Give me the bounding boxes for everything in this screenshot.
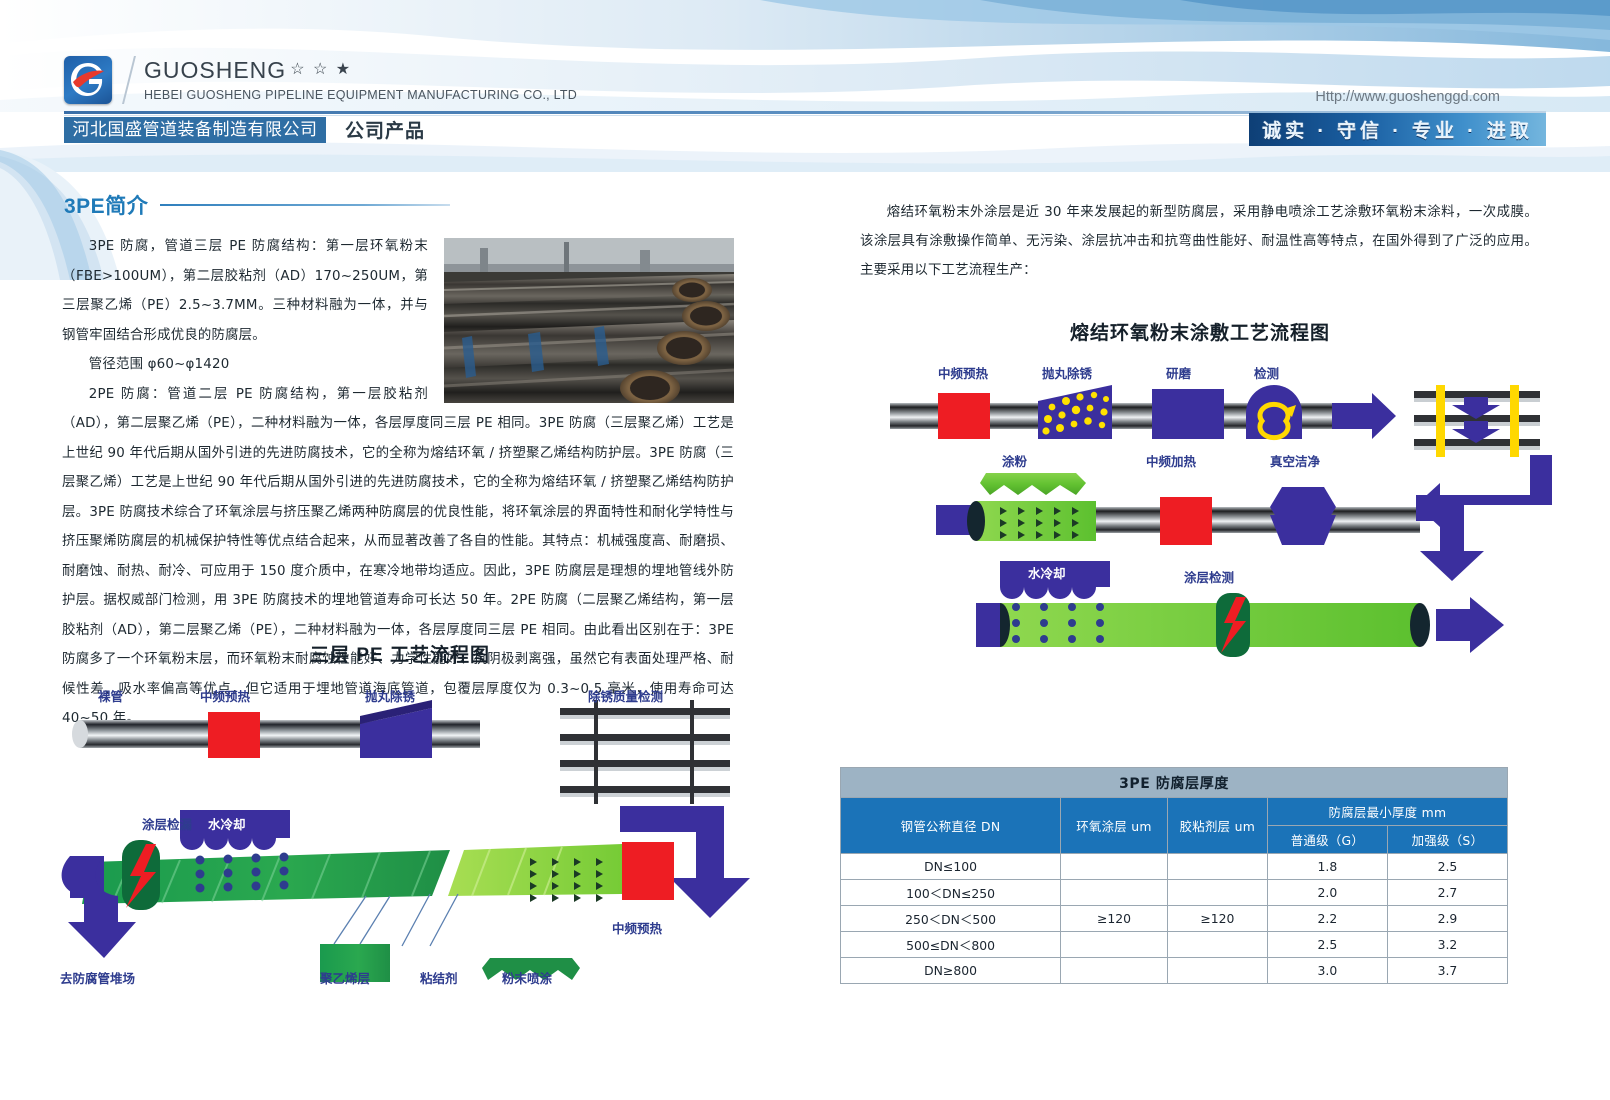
cell-epoxy	[1061, 932, 1168, 958]
company-slogan-text: 诚实 · 守信 · 专业 · 进取	[1249, 113, 1546, 146]
section-heading-text: 3PE简介	[64, 190, 148, 220]
cell-normal: 2.2	[1267, 906, 1387, 932]
left-diagram-title: 三层 PE 工艺流程图	[60, 640, 740, 667]
label-pe-layer: 聚乙烯层	[320, 968, 370, 987]
right-paragraph-1: 熔结环氧粉末外涂层是近 30 年来发展起的新型防腐层，采用静电喷涂工艺涂敷环氧粉…	[860, 198, 1538, 285]
cell-adhesive	[1167, 958, 1267, 984]
th-grade-enhanced: 加强级（S）	[1387, 826, 1507, 854]
table-row: DN≤100 1.8 2.5	[841, 854, 1508, 880]
label-inspection: 检测	[1254, 363, 1279, 382]
table-row: 250＜DN＜500 ≥120 ≥120 2.2 2.9	[841, 906, 1508, 932]
logo-divider	[122, 56, 136, 104]
cell-enhanced: 3.7	[1387, 958, 1507, 984]
label-water-cooling-left: 水冷却	[208, 814, 246, 833]
pe-flow-graphics	[60, 682, 760, 992]
company-logo-block: GUOSHENG ☆ ☆ ★ HEBEI GUOSHENG PIPELINE E…	[64, 56, 577, 104]
section-label-cn: 公司产品	[345, 116, 425, 143]
guosheng-logo-icon	[64, 56, 112, 104]
right-diagram-title: 熔结环氧粉末涂敷工艺流程图	[860, 318, 1540, 345]
label-derust-quality-check: 除锈质量检测	[588, 686, 663, 705]
label-coating-inspection: 涂层检测	[1184, 567, 1234, 586]
brand-subtitle-en: HEBEI GUOSHENG PIPELINE EQUIPMENT MANUFA…	[144, 88, 577, 102]
table-body: DN≤100 1.8 2.5 100＜DN≤250 2.0 2.7 250＜DN…	[841, 854, 1508, 984]
cell-enhanced: 2.9	[1387, 906, 1507, 932]
cell-normal: 2.0	[1267, 880, 1387, 906]
table-row: DN≥800 3.0 3.7	[841, 958, 1508, 984]
table-caption: 3PE 防腐层厚度	[841, 768, 1508, 798]
label-vacuum-clean: 真空洁净	[1270, 451, 1320, 470]
label-induction-preheat-b: 中频预热	[612, 918, 662, 937]
brand-stars: ☆ ☆ ★	[290, 57, 352, 83]
th-grade-normal: 普通级（G）	[1267, 826, 1387, 854]
cell-dn: DN≤100	[841, 854, 1061, 880]
th-nominal-diameter: 钢管公称直径 DN	[841, 798, 1061, 854]
section-heading: 3PE简介	[64, 190, 450, 220]
cell-dn: 100＜DN≤250	[841, 880, 1061, 906]
steel-pipe-photo	[444, 238, 734, 403]
label-shot-blast-derust: 抛丸除锈	[365, 686, 415, 705]
fbe-flow-graphics	[880, 355, 1560, 685]
cell-epoxy	[1061, 880, 1168, 906]
brochure-page: GUOSHENG ☆ ☆ ★ HEBEI GUOSHENG PIPELINE E…	[0, 0, 1610, 1100]
cell-epoxy	[1061, 958, 1168, 984]
label-induction-heating: 中频加热	[1146, 451, 1196, 470]
left-paragraph-3: 2PE 防腐：管道二层 PE 防腐结构，第一层胶粘剂（AD），第二层聚乙烯（PE…	[62, 380, 734, 734]
label-grinding: 研磨	[1166, 363, 1191, 382]
label-induction-preheat-1: 中频预热	[938, 363, 988, 382]
label-coating-leak-test: 涂层检漏	[142, 814, 192, 833]
right-body-text: 熔结环氧粉末外涂层是近 30 年来发展起的新型防腐层，采用静电喷涂工艺涂敷环氧粉…	[860, 198, 1538, 285]
label-to-anticorrosion-yard: 去防腐管堆场	[60, 968, 135, 987]
page-header: GUOSHENG ☆ ☆ ★ HEBEI GUOSHENG PIPELINE E…	[0, 0, 1610, 172]
company-slogan-banner: 诚实 · 守信 · 专业 · 进取	[1249, 113, 1546, 146]
cell-normal: 2.5	[1267, 932, 1387, 958]
pipe-stack-image	[444, 238, 734, 403]
cell-epoxy: ≥120	[1061, 906, 1168, 932]
fbe-process-flow-diagram: 中频预热 抛丸除锈 研磨 检测 涂粉 中频加热 真空洁净 水冷却 涂层检测	[880, 355, 1560, 685]
cell-dn: 250＜DN＜500	[841, 906, 1061, 932]
cell-enhanced: 2.7	[1387, 880, 1507, 906]
cell-adhesive	[1167, 932, 1267, 958]
table-row: 100＜DN≤250 2.0 2.7	[841, 880, 1508, 906]
three-layer-pe-flow-diagram: 裸管 中频预热 抛丸除锈 除锈质量检测 涂层检漏 水冷却 去防腐管堆场 聚乙烯层…	[60, 682, 760, 992]
table-row: 500≤DN＜800 2.5 3.2	[841, 932, 1508, 958]
label-powder-coating: 涂粉	[1002, 451, 1027, 470]
cell-adhesive: ≥120	[1167, 906, 1267, 932]
th-min-thickness-group: 防腐层最小厚度 mm	[1267, 798, 1507, 826]
cell-epoxy	[1061, 854, 1168, 880]
website-url[interactable]: Http://www.guoshenggd.com	[1315, 89, 1500, 105]
brand-name-en: GUOSHENG	[144, 57, 286, 83]
th-epoxy-layer: 环氧涂层 um	[1061, 798, 1168, 854]
cell-enhanced: 2.5	[1387, 854, 1507, 880]
th-adhesive-layer: 胶粘剂层 um	[1167, 798, 1267, 854]
company-name-cn: 河北国盛管道装备制造有限公司	[64, 117, 326, 143]
cell-adhesive	[1167, 854, 1267, 880]
cell-normal: 1.8	[1267, 854, 1387, 880]
thickness-spec-table: 3PE 防腐层厚度 钢管公称直径 DN 环氧涂层 um 胶粘剂层 um 防腐层最…	[840, 767, 1508, 984]
section-heading-rule	[160, 204, 450, 206]
label-bare-pipe: 裸管	[98, 686, 123, 705]
cell-normal: 3.0	[1267, 958, 1387, 984]
thickness-spec-table-wrap: 3PE 防腐层厚度 钢管公称直径 DN 环氧涂层 um 胶粘剂层 um 防腐层最…	[840, 767, 1508, 984]
logo-g-glyph	[71, 62, 105, 98]
label-adhesive: 粘结剂	[420, 968, 458, 987]
cell-dn: DN≥800	[841, 958, 1061, 984]
cell-adhesive	[1167, 880, 1267, 906]
label-induction-preheat-a: 中频预热	[200, 686, 250, 705]
label-powder-spray: 粉末喷涂	[502, 968, 552, 987]
label-shot-blasting: 抛丸除锈	[1042, 363, 1092, 382]
label-water-cooling: 水冷却	[1028, 563, 1066, 582]
cell-enhanced: 3.2	[1387, 932, 1507, 958]
cell-dn: 500≤DN＜800	[841, 932, 1061, 958]
